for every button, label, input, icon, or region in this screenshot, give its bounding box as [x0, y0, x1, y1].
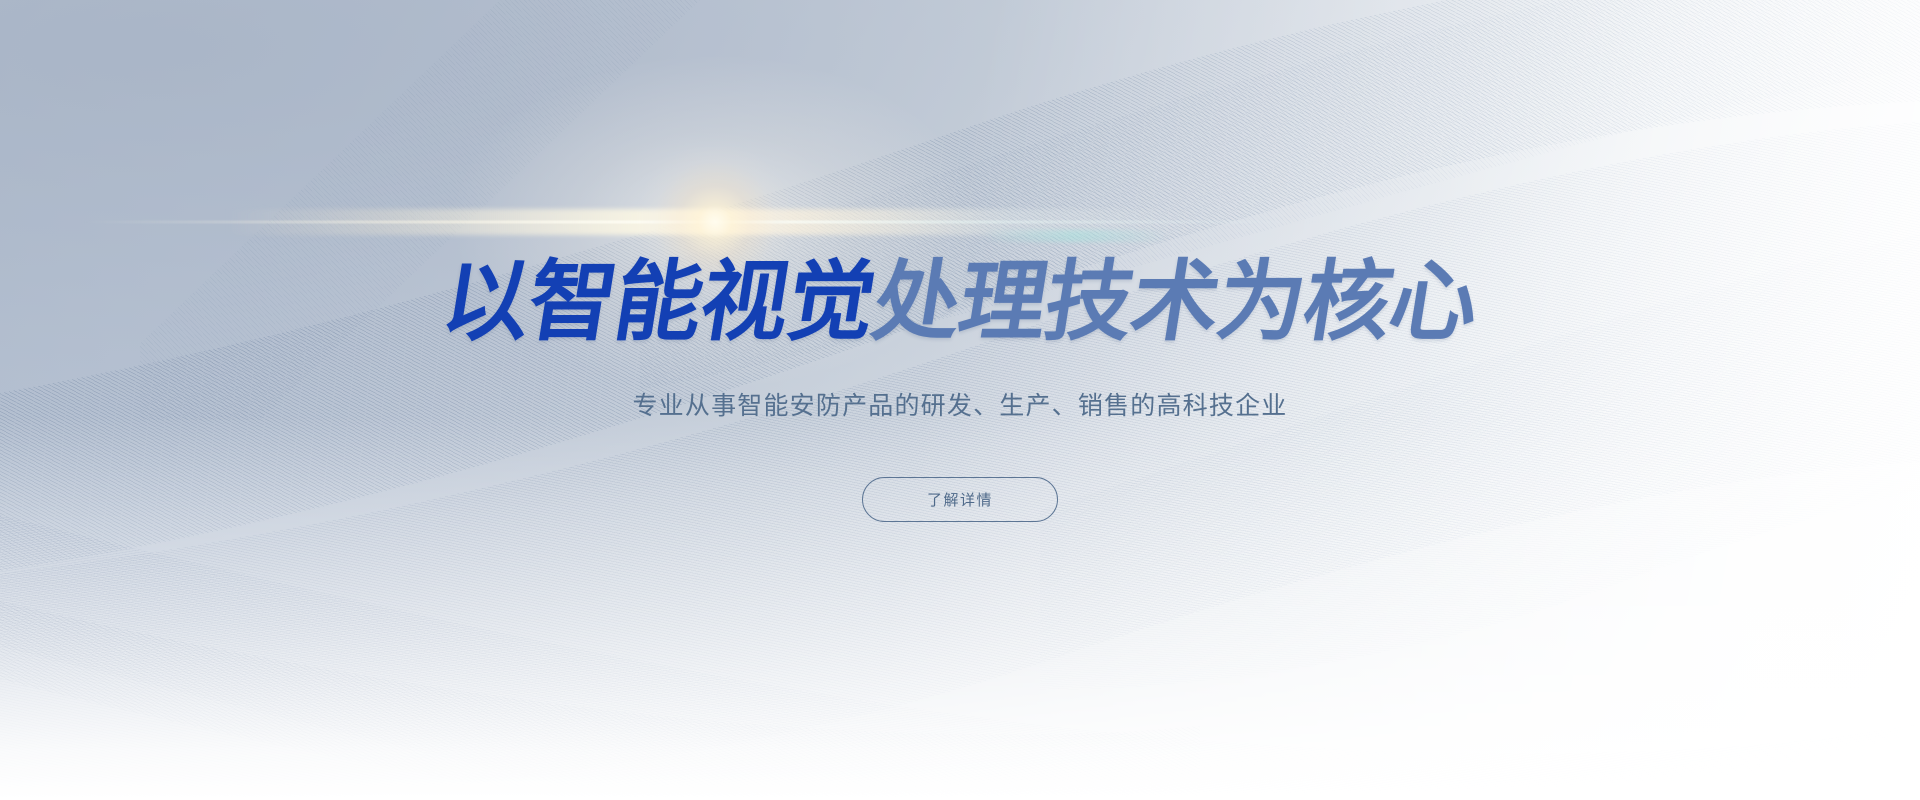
learn-more-button[interactable]: 了解详情 [862, 477, 1058, 522]
hero-headline: 以智能视觉处理技术为核心 [436, 258, 1484, 346]
headline-muted-text: 处理技术为核心 [866, 252, 1485, 351]
hero-subtitle: 专业从事智能安防产品的研发、生产、销售的高科技企业 [632, 394, 1287, 419]
hero-banner: 以智能视觉处理技术为核心 专业从事智能安防产品的研发、生产、销售的高科技企业 了… [0, 0, 1920, 800]
headline-accent-text: 以智能视觉 [435, 252, 881, 351]
hero-content: 以智能视觉处理技术为核心 专业从事智能安防产品的研发、生产、销售的高科技企业 了… [0, 0, 1920, 800]
